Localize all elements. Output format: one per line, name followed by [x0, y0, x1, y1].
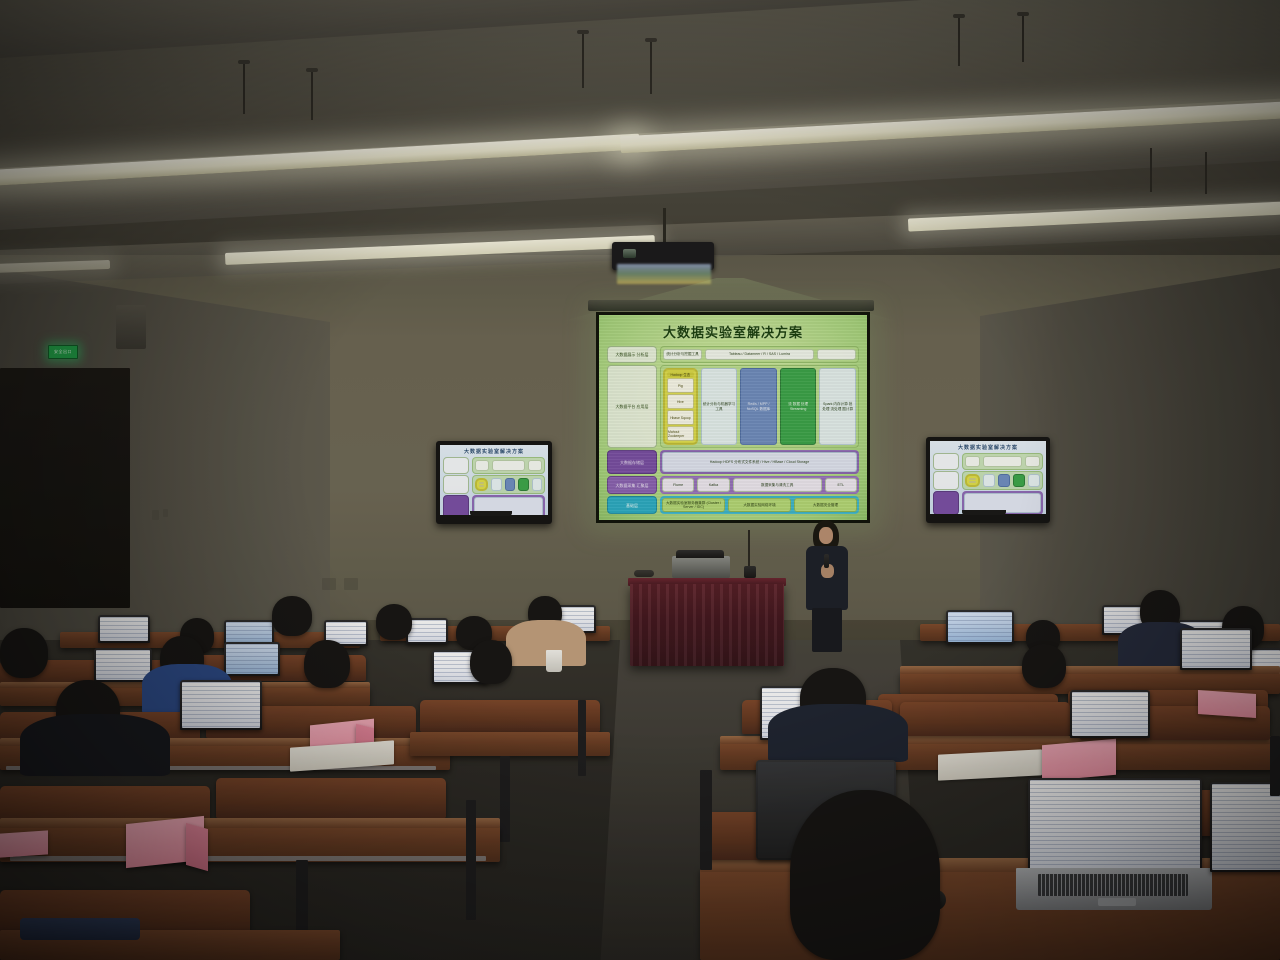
m-cell — [505, 478, 515, 491]
attendee-head — [470, 640, 512, 684]
exit-sign: 安全出口 — [48, 345, 78, 359]
monitor-slide-diagram — [440, 457, 548, 515]
screen-mount-rail — [588, 300, 874, 311]
m-cell — [528, 460, 542, 471]
desk-frame — [578, 700, 586, 776]
laptop-touchpad — [1098, 898, 1136, 906]
laptop-front-large[interactable] — [1012, 778, 1212, 910]
slide-subcell-head: Hadoop 生态 — [667, 372, 694, 377]
projector-light-spill — [617, 264, 711, 284]
slide-cell: 统计分析与机器学习工具 — [701, 368, 738, 445]
slide-cell: 统计分析与挖掘工具 — [663, 349, 702, 360]
laptop-lid — [98, 615, 150, 643]
presenter-legs — [812, 608, 842, 652]
slide-row-track: 大数据实验室服务器集群 (Cluster / Server / IDC) 大数据… — [660, 496, 859, 514]
slide-row-collect: 大数据采集 汇聚层 Flume Kafka 数据采集与清洗工具 ETL — [607, 476, 859, 494]
light-hanger-cap-2 — [306, 68, 318, 72]
presenter-face — [819, 527, 833, 544]
attendee-head-foreground — [790, 790, 940, 960]
attendee-head — [1022, 644, 1066, 688]
laptop-mid-4[interactable] — [1178, 628, 1252, 670]
desk-frame — [466, 800, 476, 920]
light-hanger-cap-1 — [238, 60, 250, 64]
attendee-head — [272, 596, 312, 636]
projector-control-unit — [672, 556, 730, 578]
slide-row-track: Flume Kafka 数据采集与清洗工具 ETL — [660, 476, 859, 494]
laptop-back-6[interactable] — [944, 610, 1014, 644]
m-label — [443, 495, 469, 515]
laptop-screen — [408, 620, 446, 642]
m-cell — [965, 456, 980, 467]
slide-row-label: 大数据采集 汇聚层 — [607, 476, 657, 494]
m-cell — [1013, 474, 1025, 487]
m-label — [933, 491, 959, 514]
presenter — [800, 520, 864, 650]
cable-coil — [634, 570, 654, 577]
microphone-stand — [748, 530, 750, 566]
laptop-lid — [224, 642, 280, 676]
slide-row-track: Hadoop 生态 Pig Hive Hbase Sqoop Mahout Zo… — [660, 365, 859, 448]
slide-cell: 大数据实验室服务器集群 (Cluster / Server / IDC) — [662, 498, 725, 512]
slide-diagram: 大数据展示 分析层 统计分析与挖掘工具 Tableau / Datameer /… — [599, 346, 867, 520]
slide-row-infra: 基础层 大数据实验室服务器集群 (Cluster / Server / IDC)… — [607, 496, 859, 514]
slide-cell: ETL — [825, 478, 857, 492]
tent-card — [0, 830, 48, 857]
m-label — [443, 475, 469, 494]
attendee-head — [0, 628, 48, 678]
stage-table — [630, 584, 784, 666]
attendee-shoulders — [20, 714, 170, 776]
slide-row-track: 统计分析与挖掘工具 Tableau / Datameer / R / SAS /… — [660, 346, 859, 363]
seat-cushion — [20, 918, 140, 940]
slide-subcell: Hbase Sqoop — [667, 410, 694, 425]
light-hanger-3 — [582, 32, 584, 88]
laptop-screen — [100, 617, 148, 641]
slide-row-label: 大数据存储层 — [607, 450, 657, 474]
m-cell — [1028, 474, 1040, 487]
laptop-lid — [946, 610, 1014, 644]
slide-cell: 流 数据 处理 Streaming — [780, 368, 817, 445]
slide-subcell: Mahout Zookeeper — [667, 426, 694, 441]
slide-cell: Kafka — [697, 478, 729, 492]
attendee-head — [376, 604, 412, 640]
m-label — [933, 471, 959, 490]
handout-paper — [938, 749, 1042, 780]
monitor-slide-title: 大数据实验室解决方案 — [930, 441, 1046, 453]
m-cell — [492, 460, 525, 471]
laptop-mid-2[interactable] — [222, 642, 280, 676]
desk-frame — [700, 770, 712, 870]
handheld-microphone — [824, 554, 829, 568]
m-cell — [983, 456, 1021, 467]
paper-cup — [546, 650, 562, 672]
projection-screen[interactable]: 大数据实验室解决方案 大数据展示 分析层 统计分析与挖掘工具 Tableau /… — [596, 312, 870, 523]
laptop-lid — [1180, 628, 1252, 670]
m-label — [443, 457, 469, 474]
seat-row-4-right-2 — [900, 702, 1070, 736]
wall-panel-right — [322, 578, 336, 590]
slide-surface: 大数据实验室解决方案 大数据展示 分析层 统计分析与挖掘工具 Tableau /… — [599, 315, 867, 520]
attendee-head — [304, 640, 350, 688]
laptop-back-1[interactable] — [96, 615, 150, 643]
light-hanger-7 — [1150, 148, 1152, 192]
monitor-stand-left — [470, 511, 512, 516]
light-hanger-cap-4 — [645, 38, 657, 42]
exit-sign-label: 安全出口 — [54, 349, 72, 355]
laptop-screen — [182, 682, 260, 728]
m-cell — [1025, 456, 1040, 467]
seat-row-4-left-2 — [216, 778, 446, 818]
laptop-screen — [1212, 784, 1280, 870]
slide-row-track: Hadoop HDFS 分布式文件系统 / Hive / HBase / Clo… — [660, 450, 859, 474]
slide-cell: Hadoop HDFS 分布式文件系统 / Hive / HBase / Clo… — [662, 452, 857, 472]
light-hanger-2 — [311, 70, 313, 120]
attendee-shoulders — [768, 704, 908, 762]
laptop-screen — [226, 644, 278, 674]
laptop-keyboard — [1038, 874, 1188, 896]
desk-edge-row-4 — [0, 818, 500, 828]
light-hanger-6 — [1022, 14, 1024, 62]
exit-door — [0, 368, 130, 608]
monitor-screen-left: 大数据实验室解决方案 — [440, 445, 548, 515]
slide-subcell: Hive — [667, 394, 694, 409]
laptop-lid — [180, 680, 262, 730]
monitor-slide-right: 大数据实验室解决方案 — [930, 441, 1046, 514]
laptop-front-right-edge[interactable] — [1210, 782, 1280, 892]
m-cell — [518, 478, 528, 491]
projector-mount — [663, 208, 666, 246]
slide-row-storage: 大数据存储层 Hadoop HDFS 分布式文件系统 / Hive / HBas… — [607, 450, 859, 474]
light-hanger-8 — [1205, 152, 1207, 194]
laptop-screen — [1030, 780, 1200, 872]
slide-row-label: 大数据展示 分析层 — [607, 346, 657, 363]
slide-row-tools: 大数据展示 分析层 统计分析与挖掘工具 Tableau / Datameer /… — [607, 346, 859, 363]
table-drape — [630, 584, 784, 666]
laptop-screen — [96, 650, 150, 680]
m-cell — [532, 478, 542, 491]
wall-switch-plate — [152, 510, 159, 520]
desk-rail — [10, 856, 486, 861]
m-cell — [965, 474, 980, 487]
laptop-lid — [406, 618, 448, 644]
wall-speaker-left — [116, 305, 146, 349]
desk-device — [744, 566, 756, 578]
lecture-hall-photo: 安全出口 大数据实验室解决方案 大数据展示 分析层 统计分析与挖掘工具 Tabl… — [0, 0, 1280, 960]
laptop-row4-2[interactable] — [1068, 690, 1152, 742]
equipment-case — [676, 550, 724, 558]
tent-card-fold — [186, 823, 208, 871]
laptop-screen — [1072, 692, 1148, 736]
m-label — [933, 453, 959, 470]
m-cell — [475, 460, 489, 471]
laptop-screen — [1182, 630, 1250, 668]
slide-cell: 大数据安全管理 — [794, 498, 857, 512]
wall-switch-plate-2 — [163, 509, 168, 517]
monitor-slide-title: 大数据实验室解决方案 — [440, 445, 548, 457]
desk-frame — [1270, 736, 1280, 796]
light-hanger-1 — [243, 62, 245, 114]
slide-cell-hadoop-stack: Hadoop 生态 Pig Hive Hbase Sqoop Mahout Zo… — [663, 368, 698, 445]
seat-row-3-center — [420, 700, 600, 732]
laptop-lid — [1028, 778, 1202, 874]
slide-row-label: 基础层 — [607, 496, 657, 514]
slide-row-platform: 大数据平台 应用层 Hadoop 生态 Pig Hive Hbase Sqoop… — [607, 365, 859, 448]
slide-cell: 大数据实验网络环境 — [728, 498, 791, 512]
light-hanger-5 — [958, 16, 960, 66]
laptop-row3-1[interactable] — [178, 680, 264, 736]
m-cell — [475, 478, 488, 491]
slide-cell — [817, 349, 856, 360]
desk-frame — [500, 756, 510, 842]
wall-panel-right-2 — [344, 578, 358, 590]
laptop-lid — [1070, 690, 1150, 738]
tent-card — [1198, 690, 1256, 718]
slide-cell: Redis / MPP / NoSQL 数据库 — [740, 368, 777, 445]
m-cell — [998, 474, 1010, 487]
light-hanger-cap-5 — [953, 14, 965, 18]
light-hanger-cap-6 — [1017, 12, 1029, 16]
laptop-screen — [948, 612, 1012, 642]
monitor-slide-left: 大数据实验室解决方案 — [440, 445, 548, 515]
slide-title: 大数据实验室解决方案 — [599, 315, 867, 346]
m-cell — [491, 478, 501, 491]
slide-row-label: 大数据平台 应用层 — [607, 365, 657, 448]
tent-card — [1042, 739, 1116, 781]
monitor-slide-diagram — [930, 453, 1046, 514]
m-cell — [983, 474, 995, 487]
slide-subcell: Pig — [667, 378, 694, 393]
projector-lens — [623, 249, 636, 258]
monitor-screen-right: 大数据实验室解决方案 — [930, 441, 1046, 514]
slide-cell: Spark 内存计算 批处理 流处理 图计算 — [819, 368, 856, 445]
slide-cell: 数据采集与清洗工具 — [733, 478, 822, 492]
slide-cell: Tableau / Datameer / R / SAS / Lumira — [705, 349, 814, 360]
light-hanger-4 — [650, 40, 652, 94]
light-hanger-cap-3 — [577, 30, 589, 34]
monitor-stand-right — [962, 510, 1006, 515]
slide-cell: Flume — [662, 478, 694, 492]
